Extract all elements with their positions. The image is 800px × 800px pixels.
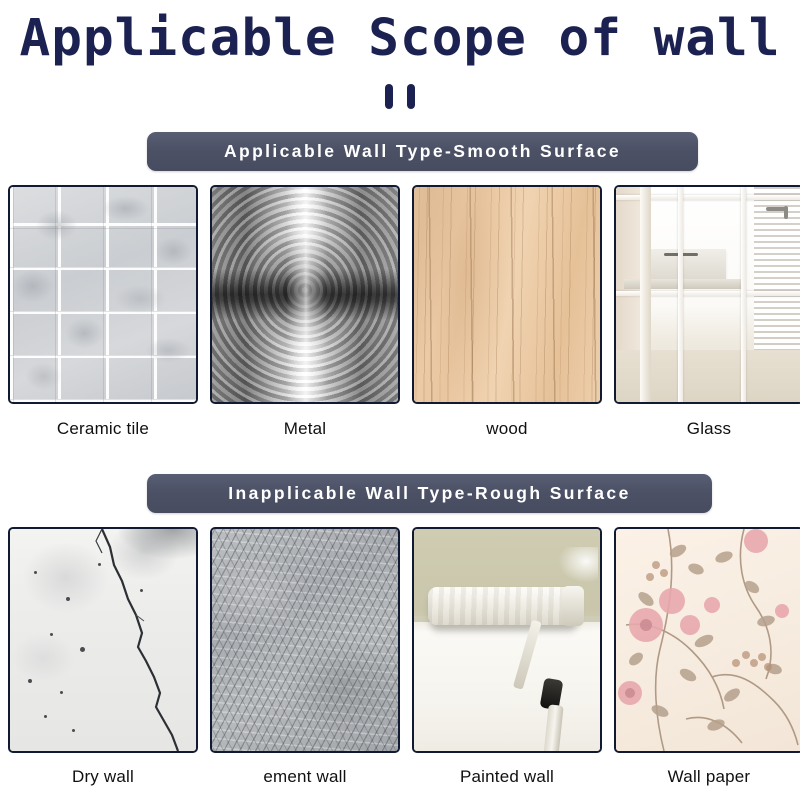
panel-image-dry-wall [8, 527, 198, 753]
drywall-speck [34, 571, 37, 574]
drywall-speck [44, 715, 47, 718]
panel-cell-wall-paper: Wall paper [614, 527, 800, 787]
panel-image-wood [412, 185, 602, 404]
panel-caption-metal: Metal [210, 419, 400, 439]
panel-caption-wall-paper: Wall paper [614, 767, 800, 787]
glass-door-handle [766, 207, 788, 211]
panel-cell-metal: Metal [210, 185, 400, 439]
panel-caption-dry-wall: Dry wall [8, 767, 198, 787]
panel-cell-wood: wood [412, 185, 602, 439]
panel-cell-painted-wall: Painted wall [412, 527, 602, 787]
drywall-speck [80, 647, 85, 652]
panel-image-wall-paper [614, 527, 800, 753]
title-decoration [0, 84, 800, 114]
panel-caption-wood: wood [412, 419, 602, 439]
wood-grain-texture [414, 187, 600, 402]
ceramic-tile-texture [10, 187, 196, 402]
paint-roller-sleeve [428, 587, 576, 625]
panel-row-smooth: Ceramic tile Metal wood [8, 185, 792, 439]
panel-caption-glass: Glass [614, 419, 800, 439]
glass-door-post [640, 187, 651, 402]
drywall-speck [140, 589, 143, 592]
drywall-speck [60, 691, 63, 694]
drywall-speck [50, 633, 53, 636]
panel-caption-painted-wall: Painted wall [412, 767, 602, 787]
panel-image-ceramic-tile [8, 185, 198, 404]
glass-blinds [754, 187, 800, 355]
floral-pattern-icon [616, 529, 800, 751]
panel-caption-ceramic-tile: Ceramic tile [8, 419, 198, 439]
paint-roller-highlight [558, 547, 598, 583]
paint-roller-scene [414, 529, 600, 751]
panel-cell-ceramic-tile: Ceramic tile [8, 185, 198, 439]
cracked-drywall-texture [10, 529, 196, 751]
drywall-speck [72, 729, 75, 732]
panel-image-cement-wall [210, 527, 400, 753]
cement-stucco-texture [212, 529, 398, 751]
panel-cell-cement-wall: ement wall [210, 527, 400, 787]
panel-cell-glass: Glass [614, 185, 800, 439]
drywall-crack-icon [10, 529, 196, 751]
panel-image-glass [614, 185, 800, 404]
paint-roller-cap [562, 586, 584, 626]
section-banner-rough: Inapplicable Wall Type-Rough Surface [147, 474, 712, 513]
title-tick-right [407, 84, 415, 109]
panel-row-rough: Dry wall ement wall Painted wall [8, 527, 792, 787]
page-title: Applicable Scope of wall [0, 10, 800, 69]
title-tick-left [385, 84, 393, 109]
drywall-speck [28, 679, 32, 683]
fresh-paint-area [414, 622, 600, 751]
glass-partition-texture [616, 187, 800, 402]
panel-cell-dry-wall: Dry wall [8, 527, 198, 787]
panel-image-painted-wall [412, 527, 602, 753]
panel-caption-cement-wall: ement wall [210, 767, 400, 787]
section-banner-smooth: Applicable Wall Type-Smooth Surface [147, 132, 698, 171]
floral-wallpaper-texture [616, 529, 800, 751]
drywall-speck [98, 563, 101, 566]
glass-mullion-vertical [678, 187, 683, 402]
panel-image-metal [210, 185, 400, 404]
brushed-metal-texture [212, 187, 398, 402]
drywall-speck [66, 597, 70, 601]
glass-mullion-vertical [741, 187, 746, 402]
